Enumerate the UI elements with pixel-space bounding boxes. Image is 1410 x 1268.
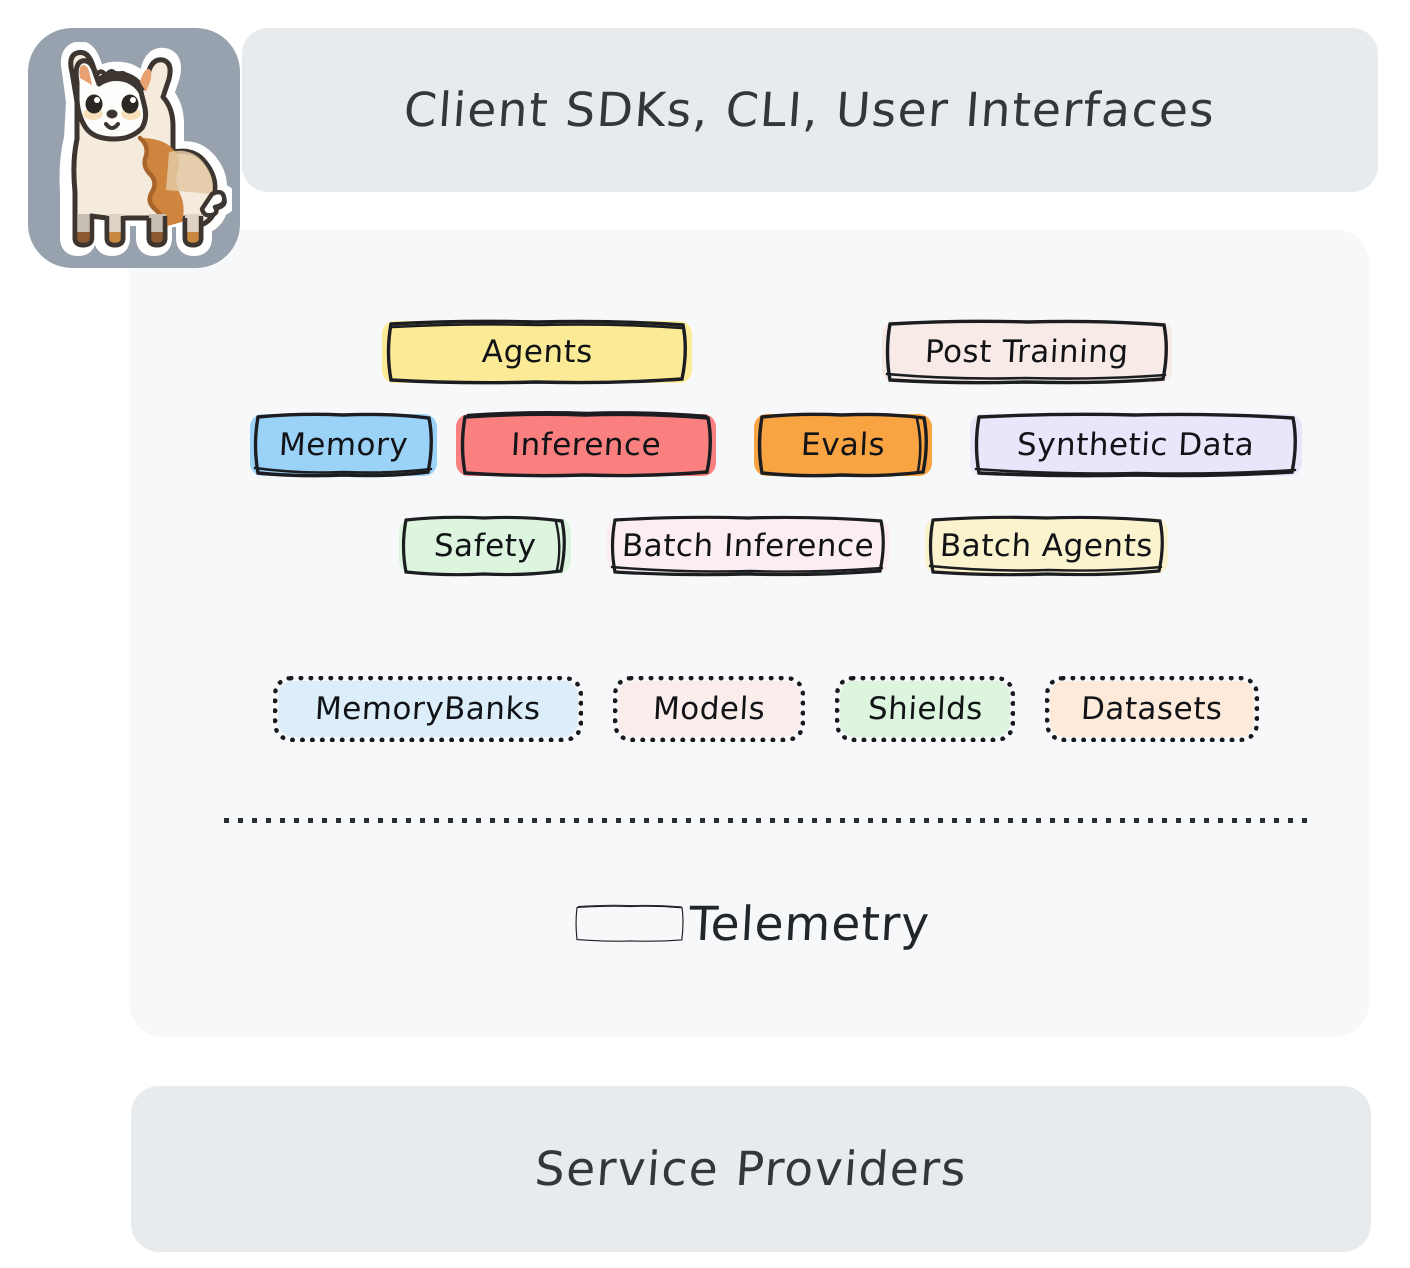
node-batch-inference[interactable]: Batch Inference	[607, 518, 889, 574]
node-datasets-label: Datasets	[1080, 694, 1223, 725]
node-agents-label: Agents	[481, 337, 594, 368]
node-agents[interactable]: Agents	[382, 321, 692, 383]
node-safety[interactable]: Safety	[399, 518, 571, 574]
llama-sticker-icon	[36, 42, 232, 264]
node-memorybanks-label: MemoryBanks	[314, 694, 541, 725]
node-memory-label: Memory	[278, 430, 409, 461]
node-memorybanks[interactable]: MemoryBanks	[278, 681, 578, 737]
node-synthetic-data[interactable]: Synthetic Data	[970, 414, 1302, 476]
diagram-canvas: Client SDKs, CLI, User Interfaces	[0, 0, 1410, 1268]
client-layer-label: Client SDKs, CLI, User Interfaces	[402, 83, 1217, 138]
node-post-training[interactable]: Post Training	[882, 321, 1172, 383]
client-layer-bar: Client SDKs, CLI, User Interfaces	[242, 28, 1378, 192]
node-models[interactable]: Models	[618, 681, 800, 737]
node-evals-label: Evals	[800, 430, 886, 461]
node-telemetry[interactable]: Telemetry	[570, 866, 930, 982]
node-batch-inference-label: Batch Inference	[621, 531, 875, 562]
sketch-border	[570, 903, 689, 944]
node-inference[interactable]: Inference	[456, 414, 716, 476]
node-datasets[interactable]: Datasets	[1050, 681, 1254, 737]
row-core: Memory Inference Evals Synthetic Da	[250, 414, 1302, 476]
node-post-training-label: Post Training	[924, 337, 1129, 368]
node-memory[interactable]: Memory	[250, 414, 437, 476]
node-models-label: Models	[652, 694, 766, 725]
row-batch: Safety Batch Inference Batch Agents	[399, 518, 1168, 574]
row-agents: Agents Post Training	[382, 321, 1172, 383]
node-synthetic-data-label: Synthetic Data	[1017, 430, 1256, 461]
dotted-divider	[222, 818, 1318, 823]
node-shields[interactable]: Shields	[840, 681, 1010, 737]
node-safety-label: Safety	[433, 531, 537, 562]
node-evals[interactable]: Evals	[754, 414, 932, 476]
service-providers-bar: Service Providers	[131, 1086, 1371, 1252]
service-providers-label: Service Providers	[533, 1142, 969, 1197]
node-telemetry-label: Telemetry	[688, 897, 932, 952]
node-batch-agents-label: Batch Agents	[939, 531, 1153, 562]
llama-logo-badge	[28, 28, 240, 268]
node-inference-label: Inference	[510, 430, 662, 461]
node-batch-agents[interactable]: Batch Agents	[925, 518, 1168, 574]
row-resources: MemoryBanks Models Shields Datasets	[278, 681, 1254, 737]
node-shields-label: Shields	[867, 694, 984, 725]
